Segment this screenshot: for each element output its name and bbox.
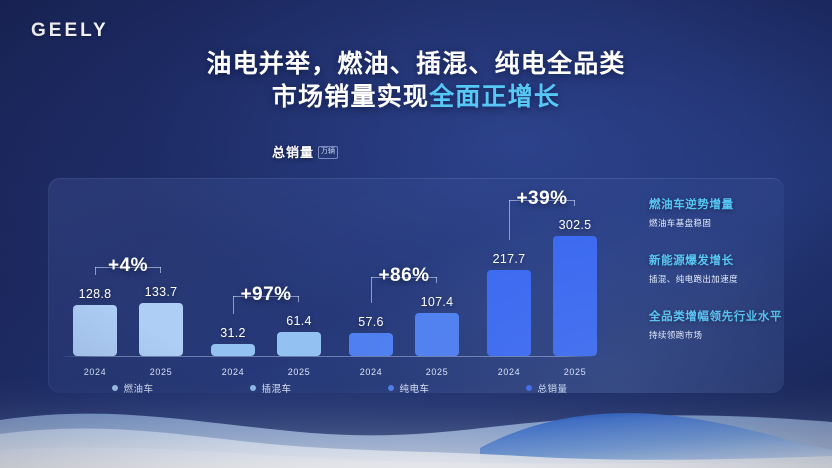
highlight-item-1: 燃油车逆势增量燃油车基盘稳固 <box>649 197 784 231</box>
growth-percentage: +86% <box>324 265 484 287</box>
chart-subtitle-text: 总销量 <box>272 142 314 161</box>
bar-group-3: 57.62024107.42025+86%纯电车 <box>339 179 479 393</box>
bar[interactable] <box>73 305 117 356</box>
title-line-1: 油电并举，燃油、插混、纯电全品类 <box>0 48 832 81</box>
bar-value-label: 217.7 <box>474 252 544 266</box>
highlight-heading: 燃油车逆势增量 <box>649 197 784 214</box>
growth-percentage: +97% <box>186 284 346 306</box>
chart-subtitle: 总销量 万辆 <box>272 142 338 161</box>
bar-value-label: 302.5 <box>540 218 610 232</box>
highlight-subtext: 插混、纯电跑出加速度 <box>649 272 784 287</box>
bar-chart: 128.82024133.72025+4%燃油车31.2202461.42025… <box>49 179 609 393</box>
title-line-2-highlight: 全面正增长 <box>429 83 560 111</box>
highlight-item-3: 全品类增幅领先行业水平持续领跑市场 <box>649 309 784 343</box>
highlights-list: 燃油车逆势增量燃油车基盘稳固新能源爆发增长插混、纯电跑出加速度全品类增幅领先行业… <box>649 197 784 365</box>
bar[interactable] <box>415 313 459 356</box>
growth-percentage: +4% <box>48 255 208 277</box>
highlight-item-2: 新能源爆发增长插混、纯电跑出加速度 <box>649 253 784 287</box>
bar-value-label: 31.2 <box>198 326 268 340</box>
bar-value-label: 61.4 <box>264 314 334 328</box>
growth-percentage: +39% <box>462 188 622 210</box>
highlight-subtext: 燃油车基盘稳固 <box>649 216 784 231</box>
bar[interactable] <box>487 270 531 356</box>
bar[interactable] <box>277 332 321 356</box>
page-title: 油电并举，燃油、插混、纯电全品类 市场销量实现全面正增长 <box>0 48 832 114</box>
bar[interactable] <box>553 236 597 356</box>
chart-card: 128.82024133.72025+4%燃油车31.2202461.42025… <box>48 178 784 393</box>
geely-logo: GEELY <box>31 20 109 42</box>
highlight-heading: 新能源爆发增长 <box>649 253 784 270</box>
highlight-subtext: 持续领跑市场 <box>649 328 784 343</box>
bar[interactable] <box>211 344 255 356</box>
title-line-2-prefix: 市场销量实现 <box>272 83 429 111</box>
bar-group-2: 31.2202461.42025+97%插混车 <box>201 179 341 393</box>
title-line-2: 市场销量实现全面正增长 <box>0 81 832 114</box>
bar[interactable] <box>349 333 393 356</box>
bar-value-label: 57.6 <box>336 315 406 329</box>
bar-value-label: 128.8 <box>60 287 130 301</box>
bar-group-4: 217.72024302.52025+39%总销量 <box>477 179 617 393</box>
bar[interactable] <box>139 303 183 356</box>
bar-group-1: 128.82024133.72025+4%燃油车 <box>63 179 203 393</box>
highlight-heading: 全品类增幅领先行业水平 <box>649 309 784 326</box>
bar-value-label: 107.4 <box>402 295 472 309</box>
decorative-waves <box>0 376 832 468</box>
chart-unit-badge: 万辆 <box>318 146 338 159</box>
slide-canvas: GEELY 油电并举，燃油、插混、纯电全品类 市场销量实现全面正增长 总销量 万… <box>0 0 832 468</box>
